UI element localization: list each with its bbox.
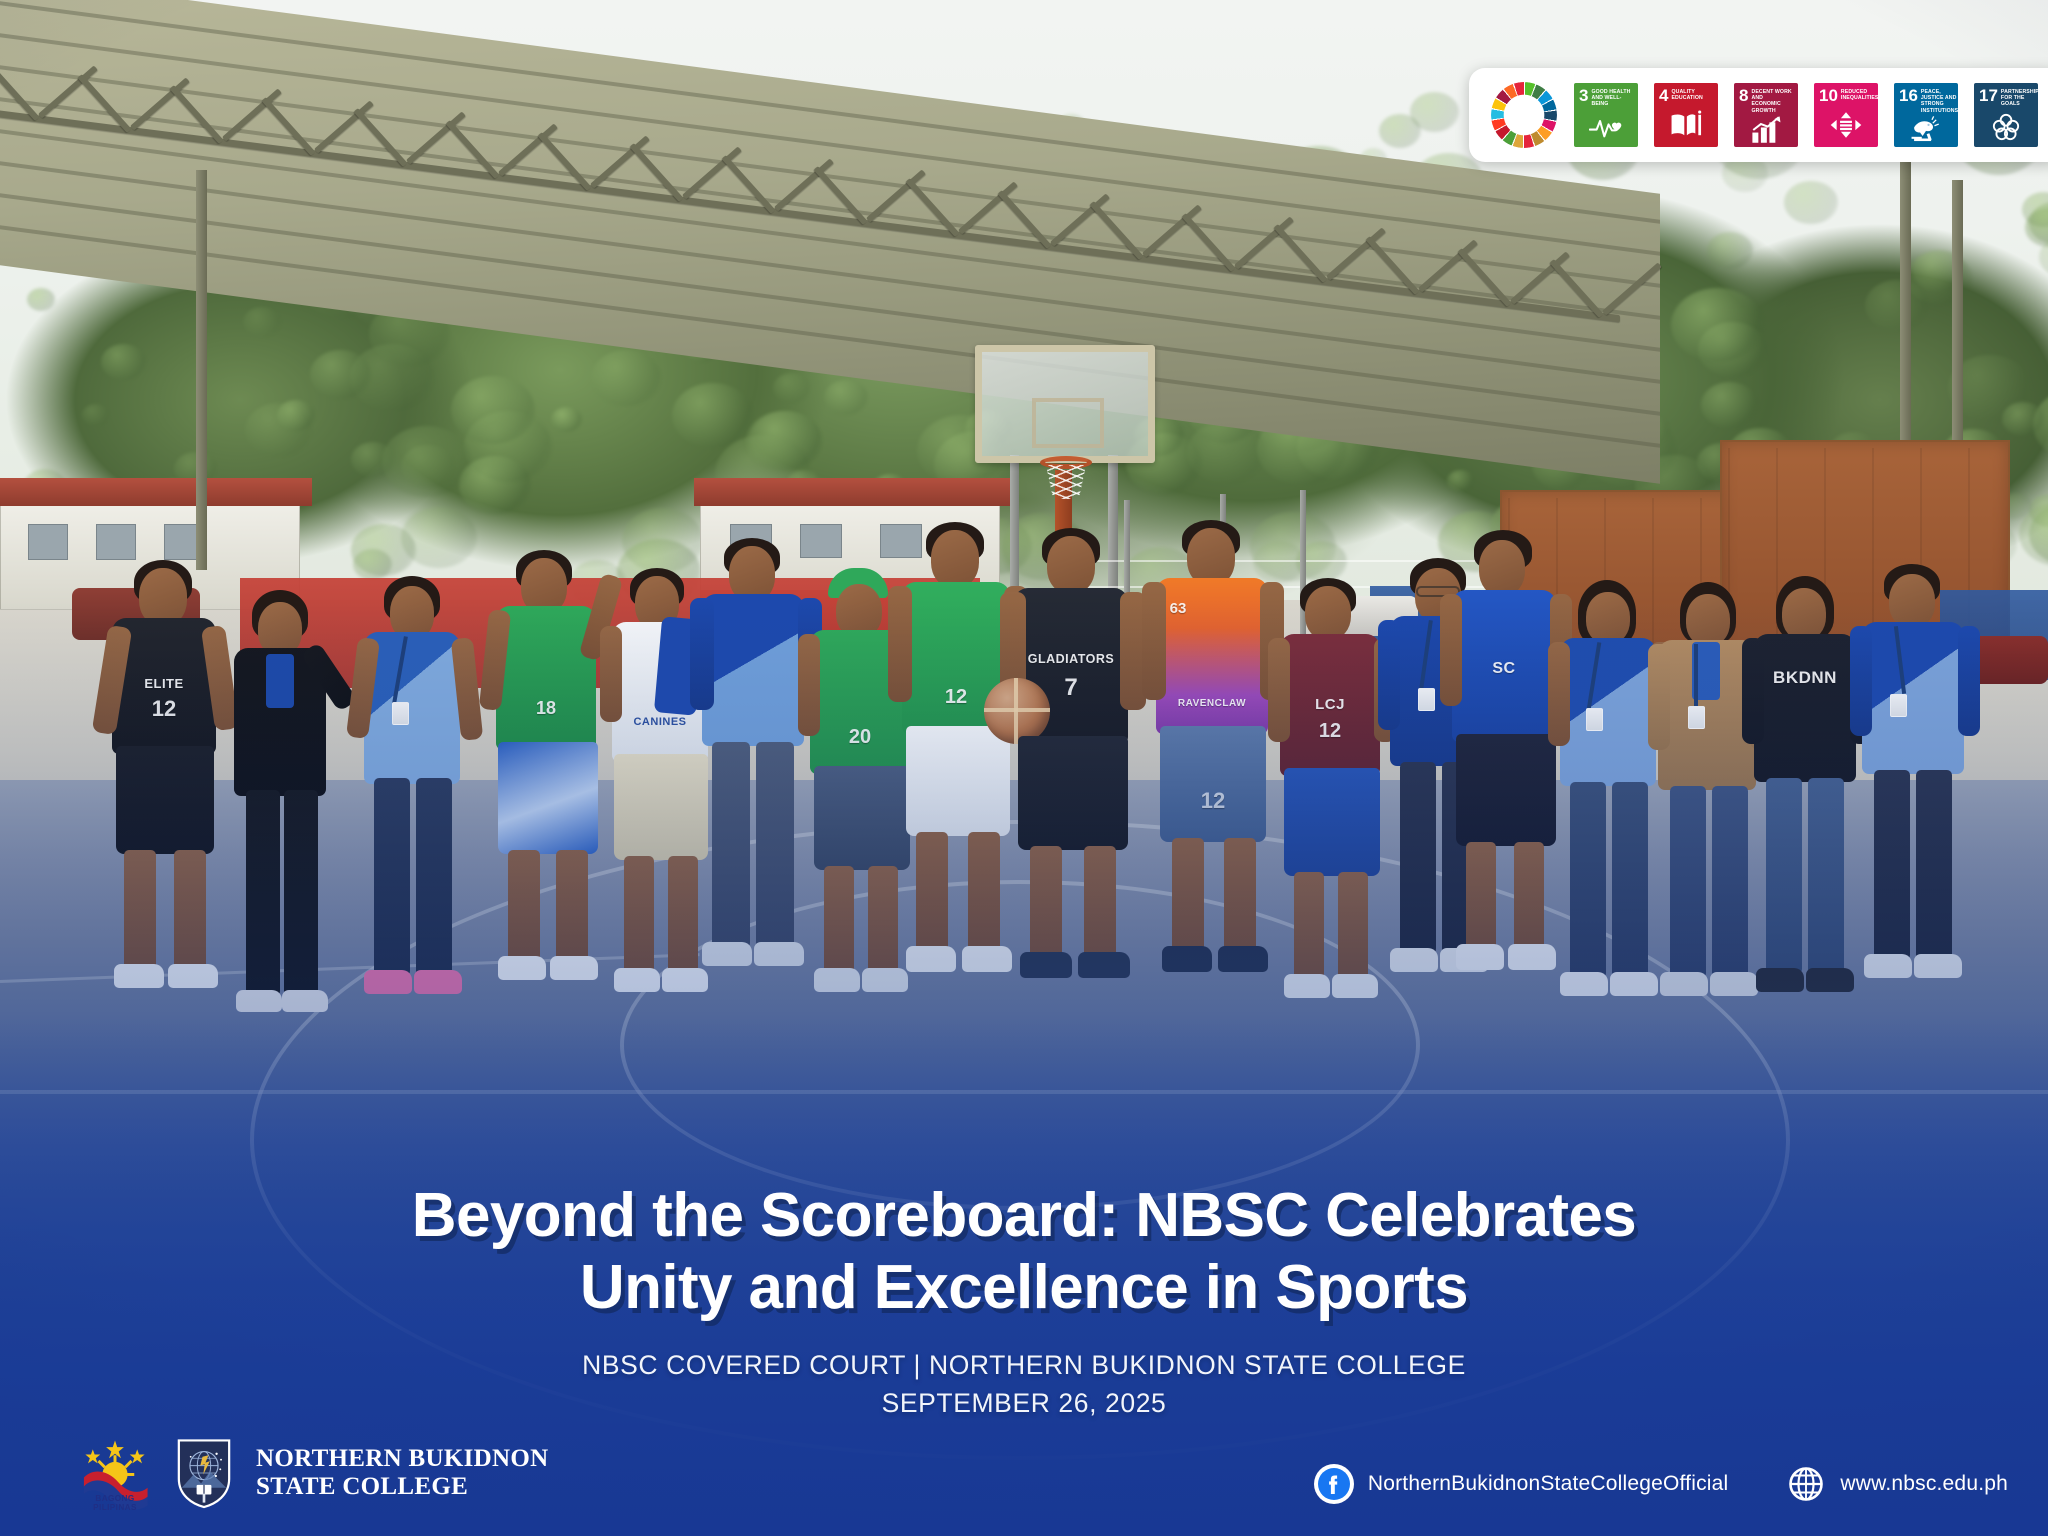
inner-shirt xyxy=(266,654,294,708)
poster-stage: ELITE 12 xyxy=(0,0,2048,1536)
footer-bar: BAGONG PILIPINAS xyxy=(0,1418,2048,1536)
globe-icon[interactable] xyxy=(1786,1464,1826,1504)
sdg-goal-label: QUALITY EDUCATION xyxy=(1671,88,1713,101)
bagong-pilipinas-caption: BAGONG PILIPINAS xyxy=(78,1494,152,1512)
event-venue: NBSC COVERED COURT | NORTHERN BUKIDNON S… xyxy=(0,1346,2048,1384)
shoe xyxy=(550,956,598,980)
sdg-goal-number: 17 xyxy=(1979,88,1998,103)
shoe xyxy=(1218,946,1268,972)
jersey-green: 18 xyxy=(496,606,596,750)
shoe xyxy=(114,964,164,988)
institution-name: NORTHERN BUKIDNON STATE COLLEGE xyxy=(256,1445,548,1501)
sdg-goal-8: 8DECENT WORK AND ECONOMIC GROWTH xyxy=(1734,83,1798,147)
sdg-goal-number: 16 xyxy=(1899,88,1918,103)
jersey-ravenclaw: 63 RAVENCLAW xyxy=(1156,578,1268,734)
facebook-handle: NorthernBukidnonStateCollegeOfficial xyxy=(1368,1472,1729,1496)
shoe xyxy=(364,970,412,994)
equals-arrows-icon xyxy=(1819,103,1873,147)
shoe xyxy=(1914,954,1962,978)
shoe xyxy=(498,956,546,980)
lanyard xyxy=(1694,644,1698,708)
sdg-goal-tiles: 3GOOD HEALTH AND WELL-BEING4QUALITY EDUC… xyxy=(1574,83,2038,147)
shoe xyxy=(814,968,860,992)
shoe xyxy=(1390,948,1438,972)
jersey-lcj: LCJ 12 xyxy=(1280,634,1380,776)
sdg-goal-3: 3GOOD HEALTH AND WELL-BEING xyxy=(1574,83,1638,147)
sdg-goal-label: DECENT WORK AND ECONOMIC GROWTH xyxy=(1751,88,1793,114)
sdg-goal-number: 4 xyxy=(1659,88,1668,103)
footer-logos: BAGONG PILIPINAS xyxy=(78,1436,548,1510)
facebook-link[interactable]: NorthernBukidnonStateCollegeOfficial xyxy=(1314,1464,1729,1504)
open-book-icon xyxy=(1659,103,1713,147)
page-title: Beyond the Scoreboard: NBSC Celebrates U… xyxy=(0,1180,2048,1324)
sdg-goal-16: 16PEACE, JUSTICE AND STRONG INSTITUTIONS xyxy=(1894,83,1958,147)
shoe xyxy=(1020,952,1072,978)
sdg-color-wheel-icon xyxy=(1491,82,1557,148)
nbsc-shield-logo xyxy=(174,1436,234,1510)
id-card xyxy=(1890,694,1907,717)
website-link[interactable]: www.nbsc.edu.ph xyxy=(1786,1464,2008,1504)
person-athlete-ravenclaw: 63 RAVENCLAW 12 xyxy=(1142,520,1284,1030)
institution-line-2: STATE COLLEGE xyxy=(256,1473,548,1501)
id-card xyxy=(1586,708,1603,731)
sdg-goal-label: PARTNERSHIPS FOR THE GOALS xyxy=(2001,88,2038,108)
shoe xyxy=(1756,968,1804,992)
person-athlete-elite: ELITE 12 xyxy=(98,560,238,1030)
dove-gavel-icon xyxy=(1899,114,1953,147)
caption-block: Beyond the Scoreboard: NBSC Celebrates U… xyxy=(0,1180,2048,1422)
jersey-blue-sc: SC xyxy=(1452,590,1556,742)
shoe xyxy=(1284,974,1330,998)
shoe xyxy=(754,942,804,966)
event-details: NBSC COVERED COURT | NORTHERN BUKIDNON S… xyxy=(0,1346,2048,1422)
shoe xyxy=(906,946,956,972)
shirt-bkdnn: BKDNN xyxy=(1754,634,1856,782)
sdg-goal-number: 3 xyxy=(1579,88,1588,103)
id-card xyxy=(392,702,409,725)
shoe xyxy=(1864,954,1912,978)
sdg-goal-4: 4QUALITY EDUCATION xyxy=(1654,83,1718,147)
id-card xyxy=(1688,706,1705,729)
interlocking-circles-icon xyxy=(1979,108,2033,147)
sdg-goal-17: 17PARTNERSHIPS FOR THE GOALS xyxy=(1974,83,2038,147)
shoe xyxy=(614,968,660,992)
heartbeat-icon xyxy=(1579,108,1633,147)
shoe xyxy=(1162,946,1212,972)
shoe xyxy=(702,942,752,966)
person-athlete-lcj: LCJ 12 xyxy=(1268,578,1394,1030)
shoe xyxy=(1078,952,1130,978)
sdg-badge-panel: 3GOOD HEALTH AND WELL-BEING4QUALITY EDUC… xyxy=(1469,68,2048,162)
sdg-goal-number: 10 xyxy=(1819,88,1838,103)
shorts-12: 12 xyxy=(1160,726,1266,842)
bagong-pilipinas-logo: BAGONG PILIPINAS xyxy=(78,1436,152,1510)
growth-chart-icon xyxy=(1739,114,1793,147)
shoe xyxy=(1806,968,1854,992)
shoe xyxy=(1332,974,1378,998)
shoe xyxy=(1560,972,1608,996)
title-line-2: Unity and Excellence in Sports xyxy=(0,1252,2048,1324)
person-athlete-green-a: 18 xyxy=(482,550,614,1030)
sdg-goal-number: 8 xyxy=(1739,88,1748,103)
shoe xyxy=(282,990,328,1012)
footer-social-links: NorthernBukidnonStateCollegeOfficial www… xyxy=(1314,1464,2008,1504)
facebook-icon[interactable] xyxy=(1314,1464,1354,1504)
id-card xyxy=(1418,688,1435,711)
shoe xyxy=(1456,944,1504,970)
title-line-1: Beyond the Scoreboard: NBSC Celebrates xyxy=(0,1180,2048,1252)
sdg-goal-label: GOOD HEALTH AND WELL-BEING xyxy=(1591,88,1633,108)
person-staff-blue-polo xyxy=(352,576,478,1026)
sdg-goal-label: REDUCED INEQUALITIES xyxy=(1841,88,1878,101)
event-date: SEPTEMBER 26, 2025 xyxy=(0,1384,2048,1422)
person-staff-rightmost xyxy=(1850,564,1978,1030)
basketball xyxy=(984,678,1050,744)
shoe xyxy=(236,990,282,1012)
institution-line-1: NORTHERN BUKIDNON xyxy=(256,1445,548,1473)
shoe xyxy=(1660,972,1708,996)
sdg-goal-label: PEACE, JUSTICE AND STRONG INSTITUTIONS xyxy=(1921,88,1958,114)
shoe xyxy=(414,970,462,994)
shoe xyxy=(168,964,218,988)
website-url: www.nbsc.edu.ph xyxy=(1840,1472,2008,1496)
person-staff-black-jacket xyxy=(222,590,344,1030)
sdg-goal-10: 10REDUCED INEQUALITIES xyxy=(1814,83,1878,147)
